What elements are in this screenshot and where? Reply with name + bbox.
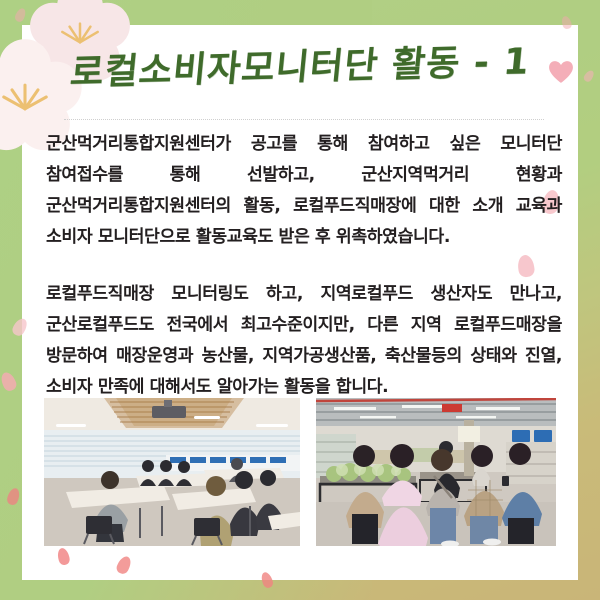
title-divider	[64, 119, 544, 120]
body-text-block: 군산먹거리통합지원센터가 공고를 통해 참여하고 싶은 모니터단 참여접수를 통…	[46, 129, 562, 403]
photo-gallery	[44, 398, 556, 546]
photo-local-food-store[interactable]	[316, 398, 556, 546]
photo-meeting-room[interactable]	[44, 398, 300, 546]
title-block: 로컬소비자모니터단 활동 - 1	[22, 48, 578, 88]
paragraph-1: 군산먹거리통합지원센터가 공고를 통해 참여하고 싶은 모니터단 참여접수를 통…	[46, 129, 562, 253]
page-title: 로컬소비자모니터단 활동 - 1	[68, 42, 531, 93]
petal-icon	[582, 69, 595, 83]
promo-card: 로컬소비자모니터단 활동 - 1 군산먹거리통합지원센터가 공고를 통해 참여하…	[0, 0, 600, 600]
paragraph-2: 로컬푸드직매장 모니터링도 하고, 지역로컬푸드 생산자도 만나고, 군산로컬푸…	[46, 279, 562, 403]
